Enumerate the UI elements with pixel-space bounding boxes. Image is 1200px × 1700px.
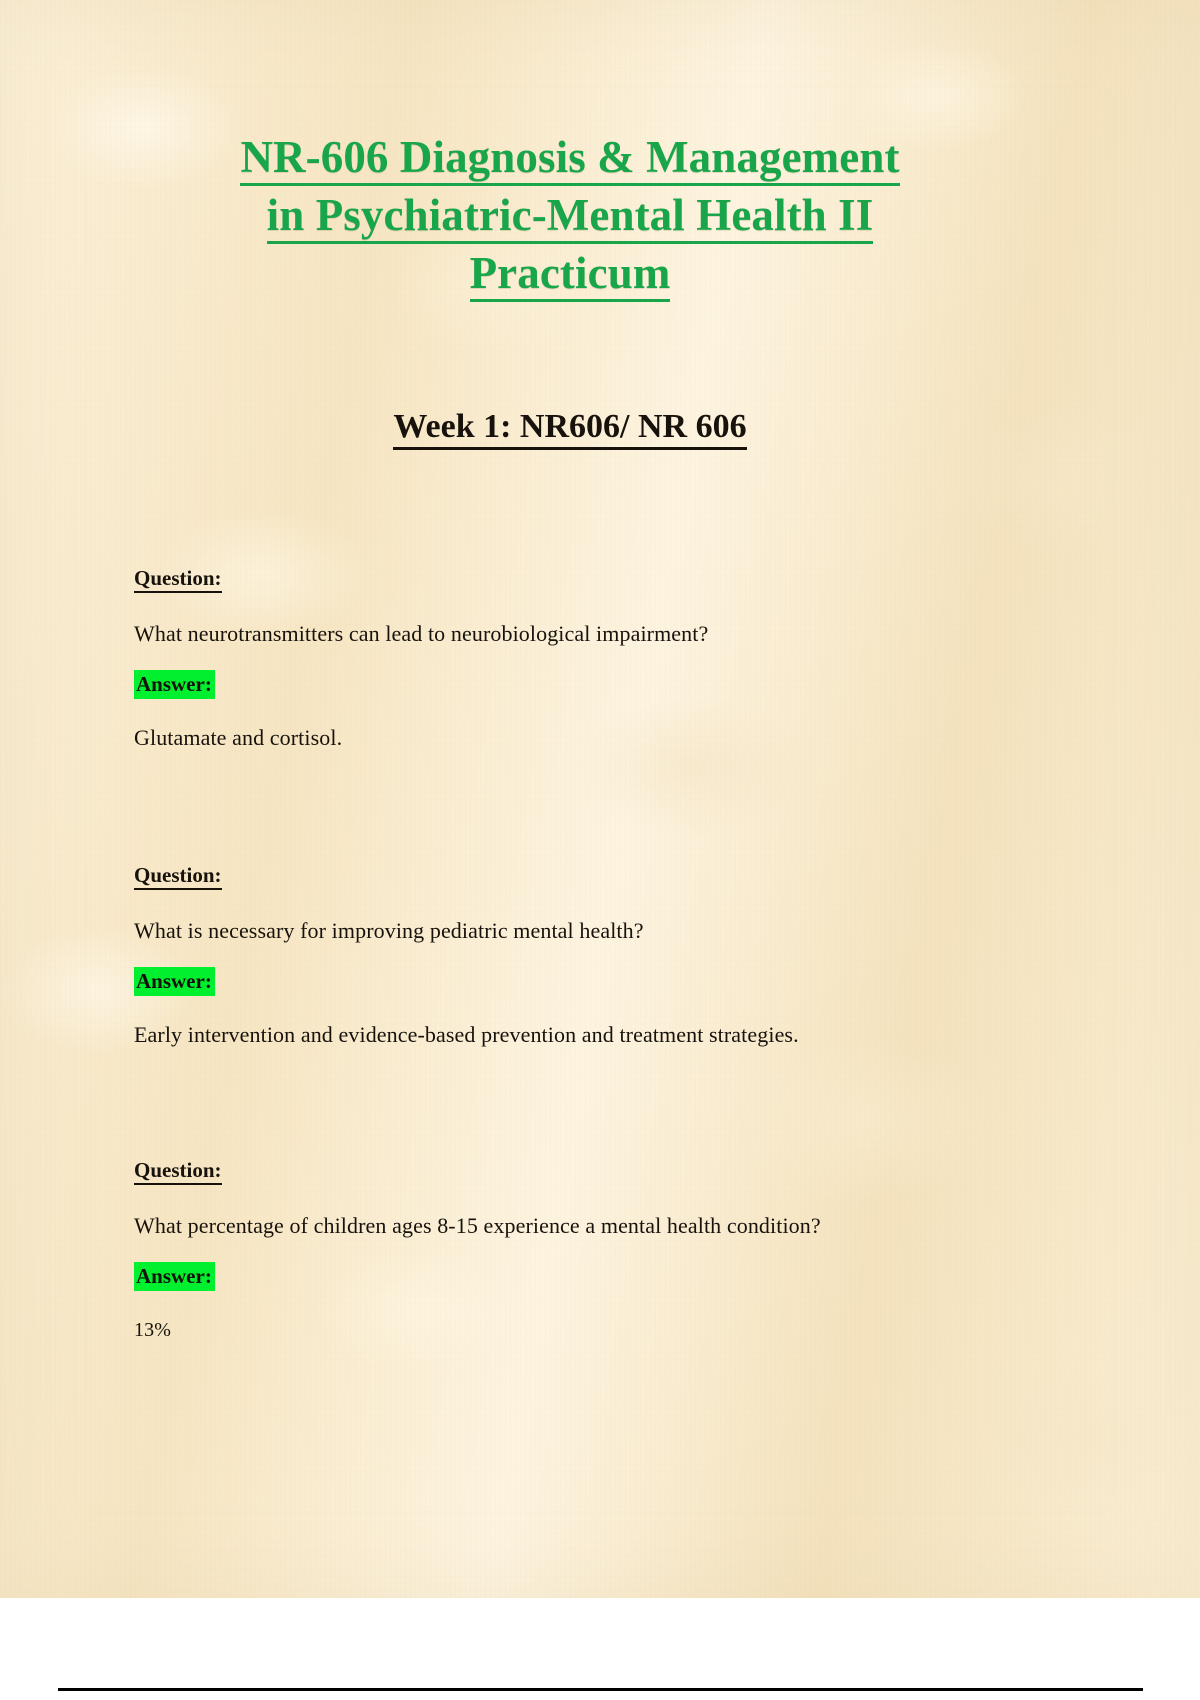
page-subtitle: Week 1: NR606/ NR 606 bbox=[160, 405, 980, 449]
page-title-line-2: in Psychiatric-Mental Health II bbox=[160, 186, 980, 244]
question-label-2: Question: bbox=[134, 862, 1064, 888]
answer-text-2: Early intervention and evidence-based pr… bbox=[134, 1020, 1064, 1050]
qa-block-1: Question: What neurotransmitters can lea… bbox=[134, 565, 1064, 753]
bottom-divider bbox=[58, 1688, 1143, 1691]
answer-text-1: Glutamate and cortisol. bbox=[134, 723, 1064, 753]
qa-block-3: Question: What percentage of children ag… bbox=[134, 1157, 1064, 1345]
page-gutter bbox=[0, 1598, 1200, 1700]
answer-label-2: Answer: bbox=[134, 968, 1064, 994]
question-text-3: What percentage of children ages 8-15 ex… bbox=[134, 1211, 1064, 1241]
question-label-1: Question: bbox=[134, 565, 1064, 591]
answer-label-1: Answer: bbox=[134, 671, 1064, 697]
question-label-3: Question: bbox=[134, 1157, 1064, 1183]
answer-label-3: Answer: bbox=[134, 1263, 1064, 1289]
answer-highlight-3: Answer: bbox=[134, 1262, 215, 1291]
document-page: NR-606 Diagnosis & Management in Psychia… bbox=[0, 0, 1200, 1598]
question-text-2: What is necessary for improving pediatri… bbox=[134, 916, 1064, 946]
question-text-1: What neurotransmitters can lead to neuro… bbox=[134, 619, 1064, 649]
answer-highlight-1: Answer: bbox=[134, 670, 215, 699]
qa-block-2: Question: What is necessary for improvin… bbox=[134, 862, 1064, 1050]
answer-highlight-2: Answer: bbox=[134, 967, 215, 996]
page-title-line-1: NR-606 Diagnosis & Management bbox=[160, 128, 980, 186]
page-title-line-3: Practicum bbox=[160, 244, 980, 302]
answer-text-3: 13% bbox=[134, 1315, 1064, 1345]
document-content: NR-606 Diagnosis & Management in Psychia… bbox=[0, 0, 1200, 1598]
page-title: NR-606 Diagnosis & Management in Psychia… bbox=[160, 128, 980, 302]
